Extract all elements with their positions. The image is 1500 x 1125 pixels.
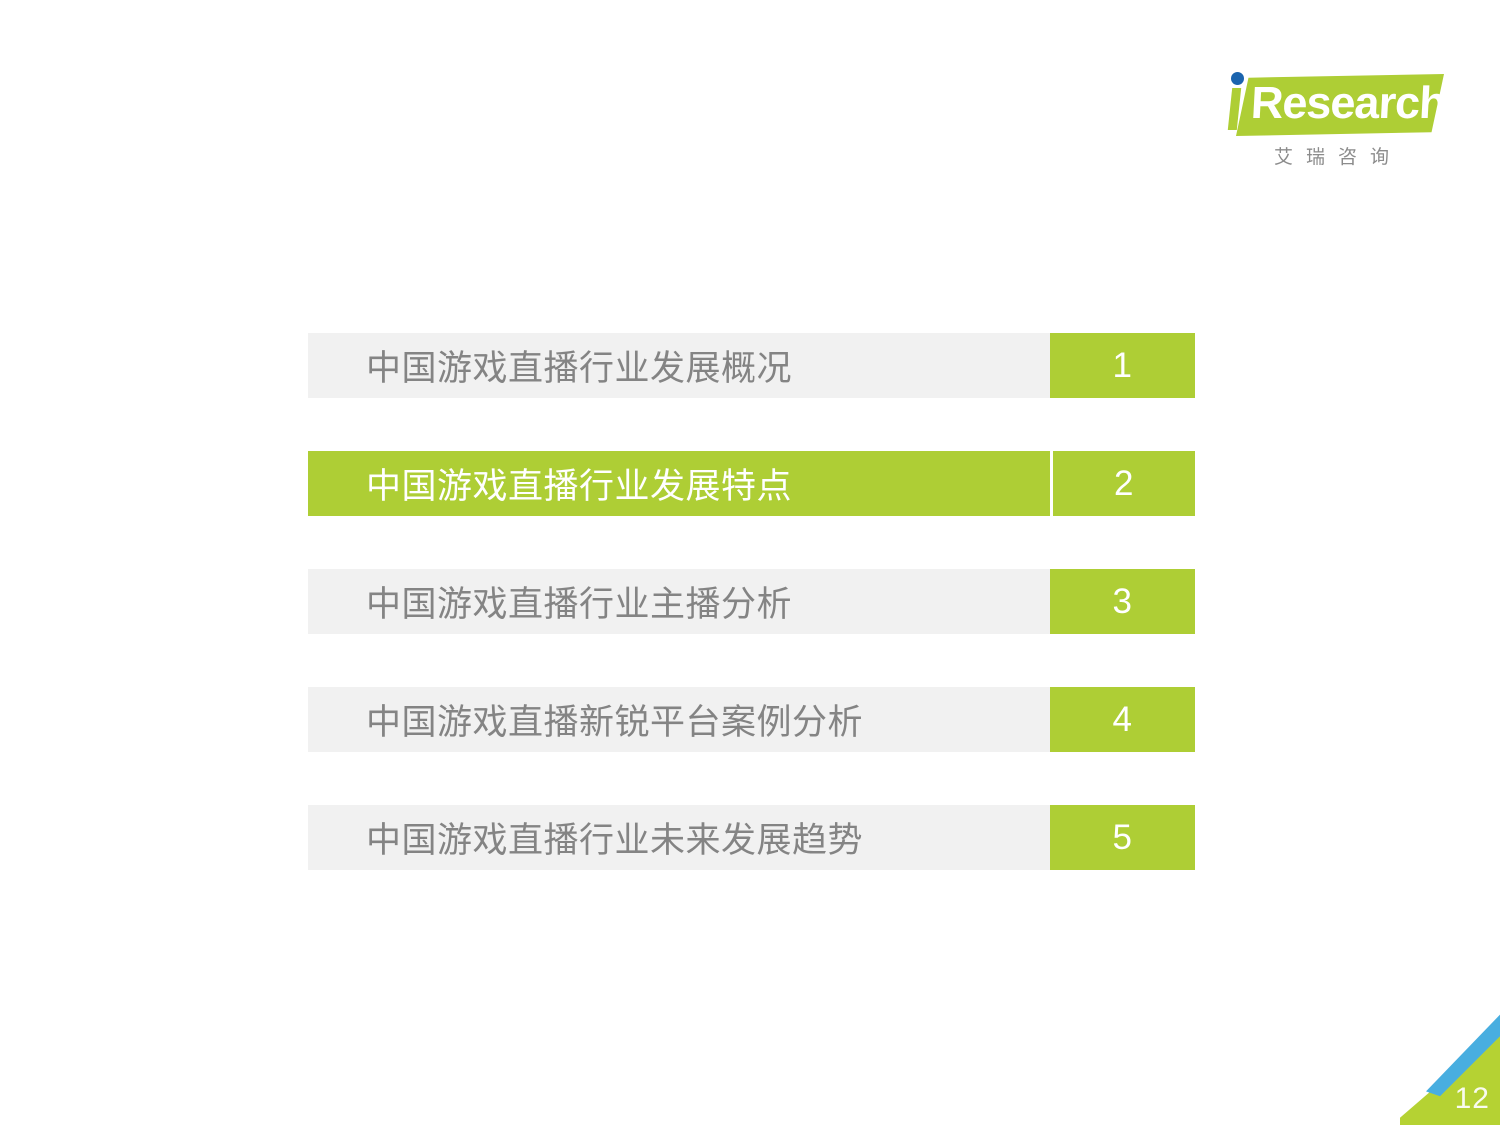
agenda-item-1-number: 1 bbox=[1113, 346, 1133, 386]
agenda-item-3-label: 中国游戏直播行业主播分析 bbox=[366, 576, 792, 627]
agenda-item-2[interactable]: 中国游戏直播行业发展特点 2 bbox=[308, 451, 1195, 516]
logo-letter-i-dot-icon bbox=[1231, 72, 1244, 85]
agenda-item-4-label: 中国游戏直播新锐平台案例分析 bbox=[366, 694, 863, 745]
agenda-item-1[interactable]: 中国游戏直播行业发展概况 1 bbox=[308, 333, 1195, 398]
agenda-item-2-number-cell[interactable]: 2 bbox=[1050, 451, 1195, 516]
agenda-item-4-label-cell[interactable]: 中国游戏直播新锐平台案例分析 bbox=[308, 687, 1050, 752]
agenda-item-4[interactable]: 中国游戏直播新锐平台案例分析 4 bbox=[308, 687, 1195, 752]
agenda-item-5-label-cell[interactable]: 中国游戏直播行业未来发展趋势 bbox=[308, 805, 1050, 870]
agenda-item-4-number: 4 bbox=[1113, 700, 1133, 740]
logo-subtitle-text: 艾瑞咨询 bbox=[1238, 142, 1438, 169]
agenda-item-5[interactable]: 中国游戏直播行业未来发展趋势 5 bbox=[308, 805, 1195, 870]
slide-canvas: Research 艾瑞咨询 中国游戏直播行业发展概况 1 中国游戏直播行业发展特… bbox=[0, 0, 1500, 1125]
agenda-list: 中国游戏直播行业发展概况 1 中国游戏直播行业发展特点 2 中国游戏直播行业主播… bbox=[308, 333, 1195, 870]
agenda-item-4-number-cell[interactable]: 4 bbox=[1050, 687, 1195, 752]
agenda-item-1-label-cell[interactable]: 中国游戏直播行业发展概况 bbox=[308, 333, 1050, 398]
agenda-item-3-number-cell[interactable]: 3 bbox=[1050, 569, 1195, 634]
agenda-item-1-label: 中国游戏直播行业发展概况 bbox=[366, 340, 792, 391]
agenda-item-2-label: 中国游戏直播行业发展特点 bbox=[366, 458, 792, 509]
agenda-item-3-number: 3 bbox=[1113, 582, 1133, 622]
agenda-item-2-label-cell[interactable]: 中国游戏直播行业发展特点 bbox=[308, 451, 1050, 516]
page-number: 12 bbox=[1455, 1082, 1490, 1116]
agenda-item-5-label: 中国游戏直播行业未来发展趋势 bbox=[366, 812, 863, 863]
corner-decoration: 12 bbox=[1400, 1005, 1500, 1125]
agenda-item-3[interactable]: 中国游戏直播行业主播分析 3 bbox=[308, 569, 1195, 634]
iresearch-logo: Research 艾瑞咨询 bbox=[1208, 66, 1448, 186]
logo-wordmark-text: Research bbox=[1249, 73, 1447, 133]
agenda-item-5-number-cell[interactable]: 5 bbox=[1050, 805, 1195, 870]
agenda-item-2-number: 2 bbox=[1114, 464, 1134, 504]
agenda-item-3-label-cell[interactable]: 中国游戏直播行业主播分析 bbox=[308, 569, 1050, 634]
agenda-item-1-number-cell[interactable]: 1 bbox=[1050, 333, 1195, 398]
agenda-item-5-number: 5 bbox=[1113, 818, 1133, 858]
